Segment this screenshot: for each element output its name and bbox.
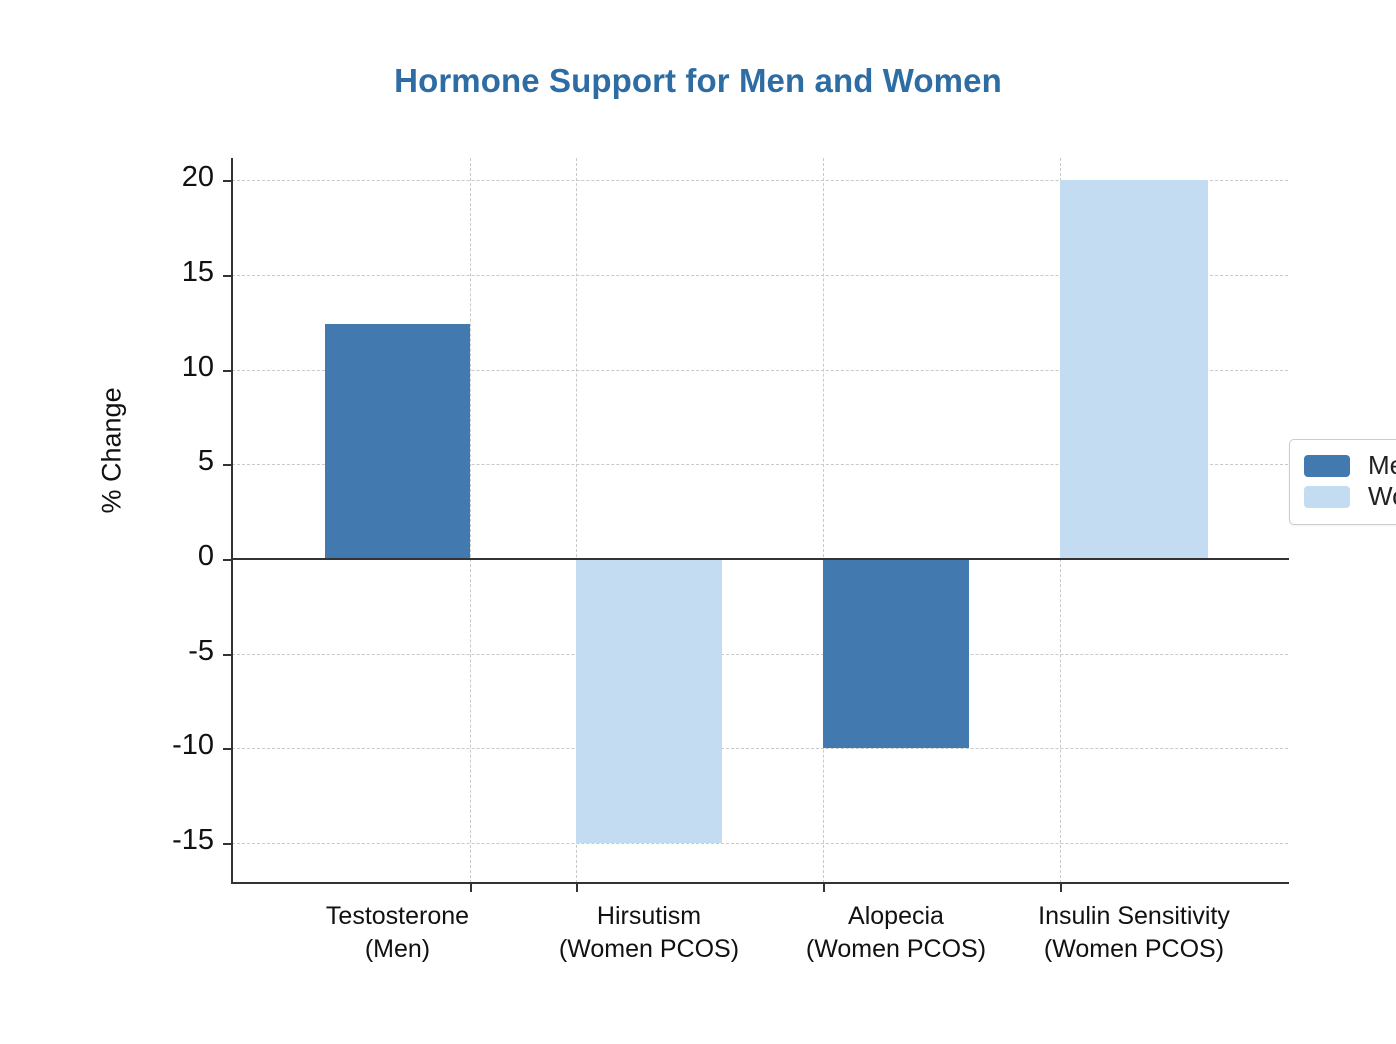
y-tick-label: 15 xyxy=(182,256,214,289)
chart-title: Hormone Support for Men and Women xyxy=(0,62,1396,100)
y-tick-label: 10 xyxy=(182,351,214,384)
y-tick-label: -15 xyxy=(172,824,214,857)
legend-swatch-men-icon xyxy=(1304,455,1350,477)
legend-swatch-women-icon xyxy=(1304,486,1350,508)
gridline-horizontal xyxy=(232,654,1288,655)
bar-men-0[interactable] xyxy=(325,324,470,559)
x-category-label-line1: Testosterone xyxy=(326,902,469,930)
y-axis-spine xyxy=(231,158,233,883)
y-tick-label: -10 xyxy=(172,729,214,762)
legend-item-men[interactable]: Men xyxy=(1304,450,1396,481)
gridline-vertical xyxy=(470,158,471,883)
gridline-horizontal xyxy=(232,748,1288,749)
bar-men-2[interactable] xyxy=(823,559,969,748)
x-tick-mark xyxy=(823,883,825,892)
legend-label-women: Women xyxy=(1368,481,1396,512)
y-tick-label: 20 xyxy=(182,161,214,194)
x-category-label: Insulin Sensitivity(Women PCOS) xyxy=(964,900,1304,966)
bar-women-3[interactable] xyxy=(1060,180,1208,559)
x-category-label-line1: Insulin Sensitivity xyxy=(1038,902,1230,930)
y-tick-label: -5 xyxy=(188,635,214,668)
x-tick-mark xyxy=(1060,883,1062,892)
chart-figure: Hormone Support for Men and Women % Chan… xyxy=(0,0,1396,1044)
x-tick-mark xyxy=(470,883,472,892)
bar-women-1[interactable] xyxy=(576,559,722,843)
chart-legend[interactable]: Men Women xyxy=(1289,439,1396,525)
legend-item-women[interactable]: Women xyxy=(1304,481,1396,512)
x-category-label-line1: Hirsutism xyxy=(597,902,701,930)
legend-label-men: Men xyxy=(1368,450,1396,481)
gridline-horizontal xyxy=(232,843,1288,844)
zero-baseline xyxy=(231,558,1289,560)
y-tick-label: 0 xyxy=(198,540,214,573)
x-axis-spine xyxy=(231,882,1289,884)
gridline-vertical xyxy=(823,158,824,883)
x-category-label-line1: Alopecia xyxy=(848,902,944,930)
y-tick-label: 5 xyxy=(198,445,214,478)
x-category-label-line2: (Women PCOS) xyxy=(964,933,1304,966)
plot-area: Men Women xyxy=(232,158,1288,883)
x-tick-mark xyxy=(576,883,578,892)
y-axis-title: % Change xyxy=(97,474,128,514)
